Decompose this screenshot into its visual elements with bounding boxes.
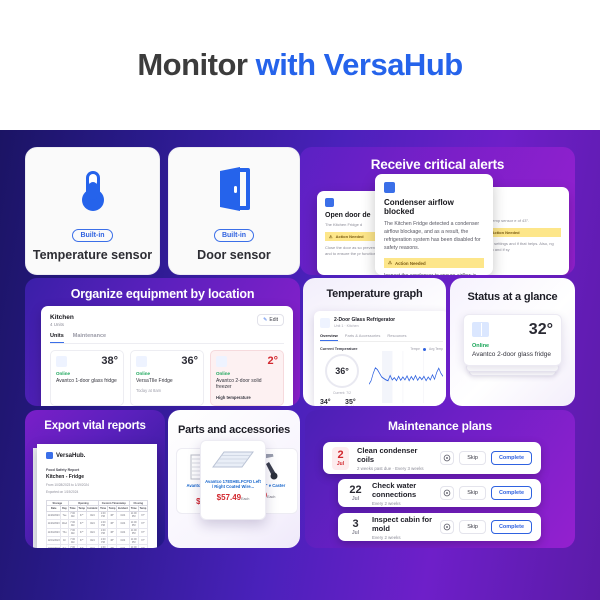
panel-maintenance-plans: Maintenance plans 2 Jul Clean condenser … bbox=[305, 410, 575, 548]
panel-title: Parts and accessories bbox=[168, 424, 300, 436]
skip-button[interactable]: Skip bbox=[459, 451, 486, 465]
table-cell: 11:00 PM bbox=[129, 520, 138, 528]
location-card: Kitchen 4 Units ✎ Edit Units Maintenance… bbox=[41, 306, 293, 406]
task-month: Jul bbox=[347, 530, 364, 536]
unit-temperature: 36° bbox=[181, 356, 198, 367]
tab-parts-accessories[interactable]: Parts & Accessories bbox=[345, 333, 381, 341]
alert-action-strip: ⚠ Action Needed bbox=[384, 258, 484, 268]
glass-fridge-icon bbox=[472, 322, 489, 337]
complete-button[interactable]: Complete bbox=[491, 486, 532, 500]
table-cell: 37° bbox=[77, 536, 86, 544]
unit-top: 2° bbox=[216, 356, 278, 367]
table-cell: Thu bbox=[61, 528, 68, 536]
status-card-top: 32° bbox=[472, 322, 553, 338]
open-door-icon bbox=[214, 148, 254, 229]
location-tabs: Units Maintenance bbox=[50, 333, 284, 344]
device-subtitle: Unit 1 · Kitchen bbox=[334, 324, 395, 328]
unit-name: Avantco 2-door solid freezer bbox=[216, 378, 278, 391]
table-cell: 12/02/2023 bbox=[47, 545, 61, 548]
panel-title: Maintenance plans bbox=[305, 419, 575, 433]
table-cell: 1:00 PM bbox=[99, 536, 108, 544]
panel-title: Temperature graph bbox=[303, 288, 446, 300]
tab-maintenance[interactable]: Maintenance bbox=[73, 333, 106, 343]
warning-icon: ⚠ bbox=[329, 234, 333, 239]
table-row: 11/28/2023Tue7:00 AM37°0/241:00 PM38°0/2… bbox=[47, 511, 148, 519]
thermometer-icon bbox=[76, 148, 110, 229]
table-cell: 7:00 AM bbox=[68, 545, 77, 548]
alert-strip-label: Action Needed bbox=[395, 261, 426, 266]
table-cell: 7:00 AM bbox=[68, 511, 77, 519]
unit-top: 36° bbox=[136, 356, 198, 367]
current-temperature-block: Current Temperature 36° Current: 7/2 34°… bbox=[320, 347, 364, 406]
table-cell: 38° bbox=[108, 528, 117, 536]
table-cell: 38° bbox=[108, 511, 117, 519]
report-generated: Exported on 1/19/2024 bbox=[46, 490, 148, 494]
task-month: Jul bbox=[347, 496, 364, 502]
table-cell: 0/24 bbox=[86, 511, 98, 519]
table-cell: 37° bbox=[138, 536, 147, 544]
page-title-accent: with VersaHub bbox=[256, 47, 463, 82]
stat-weekly-average: 35° Weekly Average Temperature bbox=[345, 399, 364, 406]
gauge-note: Current: 7/2 bbox=[320, 391, 364, 395]
status-badge: Online bbox=[472, 343, 553, 349]
task-actions: Skip Complete bbox=[440, 451, 532, 465]
task-actions: Skip Complete bbox=[440, 486, 532, 500]
table-row: 11/30/2023Thu7:00 AM37°0/241:00 PM38°0/2… bbox=[47, 528, 148, 536]
panel-organize-equipment: Organize equipment by location Kitchen 4… bbox=[25, 278, 300, 406]
table-cell: 0/24 bbox=[86, 528, 98, 536]
unit-name: Avantco 1-door glass fridge bbox=[56, 378, 118, 384]
unit-temperature: 2° bbox=[267, 356, 278, 367]
unit-temperature: 38° bbox=[101, 356, 118, 367]
task-date: 22 Jul bbox=[347, 485, 364, 502]
table-cell: 11:00 PM bbox=[129, 511, 138, 519]
task-day: 22 bbox=[347, 485, 364, 496]
task-row-clean-condenser-coils[interactable]: 2 Jul Clean condenser coils 2 weeks past… bbox=[323, 442, 541, 474]
report-table-body: 11/28/2023Tue7:00 AM37°0/241:00 PM38°0/2… bbox=[47, 511, 148, 548]
settings-gear-icon[interactable] bbox=[440, 486, 454, 500]
fridge-thumbnail-icon bbox=[136, 356, 147, 367]
table-cell: 0/24 bbox=[86, 520, 98, 528]
panel-title: Organize equipment by location bbox=[25, 287, 300, 301]
alert-body: The Kitchen Fridge detected a condenser … bbox=[384, 220, 484, 252]
table-cell: 38° bbox=[108, 536, 117, 544]
sensor-label: Temperature sensor bbox=[33, 248, 152, 262]
edit-button-label: Edit bbox=[269, 317, 278, 323]
graph-body: Current Temperature 36° Current: 7/2 34°… bbox=[320, 347, 443, 406]
table-cell: 0/24 bbox=[86, 545, 98, 548]
unit-top: 38° bbox=[56, 356, 118, 367]
device-name: 2-Door Glass Refrigerator bbox=[334, 317, 395, 323]
part-price-value: $57.49 bbox=[217, 493, 241, 502]
task-date: 3 Jul bbox=[347, 519, 364, 536]
task-day: 2 bbox=[332, 450, 349, 461]
report-document[interactable]: VersaHub. Food Safety Report Kitchen - F… bbox=[37, 444, 157, 548]
device-header: 2-Door Glass Refrigerator Unit 1 · Kitch… bbox=[320, 317, 443, 328]
table-cell: 1:00 PM bbox=[99, 545, 108, 548]
table-cell: 7:00 AM bbox=[68, 528, 77, 536]
graph-stats: 34° Daily Minimum Temperature 35° Weekly… bbox=[320, 399, 364, 406]
table-cell: 11:00 PM bbox=[129, 536, 138, 544]
task-body: Inspect cabin for mold Every 2 weeks bbox=[372, 515, 432, 540]
table-cell: 37° bbox=[77, 545, 86, 548]
current-temperature-label: Current Temperature bbox=[320, 347, 364, 351]
part-card-wire-shelf[interactable]: Avantco 178SHELFCFD Left / Right Coated … bbox=[200, 440, 266, 520]
alert-footer: Inspect the condenser to ensure airflow … bbox=[384, 273, 484, 275]
alert-card-condenser-airflow[interactable]: Condenser airflow blocked The Kitchen Fr… bbox=[375, 174, 493, 275]
alert-strip-label: Action Needed bbox=[492, 230, 520, 235]
unit-alert-meta: High temperature bbox=[216, 395, 278, 400]
table-cell: 37° bbox=[77, 511, 86, 519]
panel-status-at-a-glance: Status at a glance 32° Online Avantco 2-… bbox=[450, 278, 575, 406]
table-row: 12/02/2023Sat7:00 AM37°0/241:00 PM38°0/2… bbox=[47, 545, 148, 548]
panel-title: Status at a glance bbox=[450, 291, 575, 303]
task-actions: Skip Complete bbox=[440, 520, 532, 534]
table-cell: Tue bbox=[61, 511, 68, 519]
temperature-gauge: 36° bbox=[325, 354, 359, 388]
unit-status: Online bbox=[56, 371, 118, 376]
tab-units[interactable]: Units bbox=[50, 333, 64, 343]
task-date: 2 Jul bbox=[332, 447, 349, 470]
task-row-check-water-connections[interactable]: 22 Jul Check water connections Every 2 w… bbox=[338, 479, 541, 507]
fridge-thumbnail-icon bbox=[56, 356, 67, 367]
page-header: Monitor with VersaHub bbox=[0, 0, 600, 130]
table-cell: 37° bbox=[138, 528, 147, 536]
unit-status: Online bbox=[216, 371, 278, 376]
task-meta: 2 weeks past due · Every 3 weeks bbox=[357, 466, 432, 471]
table-row: 12/01/2023Fri7:00 AM37°0/241:00 PM38°0/2… bbox=[47, 536, 148, 544]
alert-action-strip: ⚠ Action Needed bbox=[481, 228, 561, 237]
table-cell: 37° bbox=[138, 545, 147, 548]
sensor-card-temperature[interactable]: Built-in Temperature sensor bbox=[25, 147, 160, 275]
unit-card[interactable]: 38° Online Avantco 1-door glass fridge bbox=[50, 350, 124, 406]
table-cell: 37° bbox=[138, 511, 147, 519]
alert-footer: mostat settings and if that helps. Also,… bbox=[481, 241, 561, 254]
part-price-unit: Each bbox=[241, 497, 249, 501]
table-cell: 11:00 PM bbox=[129, 528, 138, 536]
device-tabs: Overview Parts & Accessories Resources bbox=[320, 333, 443, 342]
sensor-badge: Built-in bbox=[72, 229, 112, 242]
report-kicker: Food Safety Report bbox=[46, 468, 148, 472]
brand-name: VersaHub. bbox=[56, 453, 85, 459]
table-cell: Sat bbox=[61, 545, 68, 548]
panel-title: Receive critical alerts bbox=[300, 157, 575, 172]
skip-button[interactable]: Skip bbox=[459, 486, 486, 500]
settings-gear-icon[interactable] bbox=[440, 451, 454, 465]
freezer-thumbnail-icon bbox=[216, 356, 227, 367]
table-cell: 38° bbox=[108, 520, 117, 528]
table-cell: 0/24 bbox=[117, 545, 129, 548]
brand-logo: VersaHub. bbox=[46, 452, 148, 459]
pencil-icon: ✎ bbox=[263, 317, 267, 323]
sensor-card-door[interactable]: Built-in Door sensor bbox=[168, 147, 300, 275]
status-temperature: 32° bbox=[529, 322, 553, 338]
report-range: From 10/28/2023 to 1/19/2024 bbox=[46, 483, 148, 487]
chart-svg bbox=[369, 351, 443, 403]
table-cell: 11/29/2023 bbox=[47, 520, 61, 528]
panel-receive-critical-alerts: Receive critical alerts Open door de The… bbox=[300, 147, 575, 275]
task-meta: Every 2 weeks bbox=[372, 501, 432, 506]
fridge-icon bbox=[384, 182, 395, 193]
versahub-logo-icon bbox=[46, 452, 53, 459]
table-cell: 12/01/2023 bbox=[47, 536, 61, 544]
unit-meta: Today at 8am bbox=[136, 388, 198, 393]
task-name: Check water connections bbox=[372, 481, 432, 499]
part-price-unit: Each bbox=[267, 495, 275, 499]
fridge-thumbnail-icon bbox=[320, 318, 330, 328]
task-month: Jul bbox=[332, 461, 349, 467]
table-cell: 0/24 bbox=[117, 511, 129, 519]
table-cell: 0/24 bbox=[117, 520, 129, 528]
tab-overview[interactable]: Overview bbox=[320, 333, 338, 341]
page-title: Monitor with VersaHub bbox=[137, 47, 462, 83]
task-body: Clean condenser coils 2 weeks past due ·… bbox=[357, 446, 432, 471]
panel-export-vital-reports: Export vital reports VersaHub. Food Safe… bbox=[25, 410, 165, 548]
complete-button[interactable]: Complete bbox=[491, 451, 532, 465]
location-name: Kitchen bbox=[50, 314, 74, 321]
unit-list: 38° Online Avantco 1-door glass fridge 3… bbox=[50, 350, 284, 406]
feature-grid: Built-in Temperature sensor Built-in Doo… bbox=[0, 130, 600, 600]
alert-heading: ure bbox=[481, 208, 561, 215]
table-cell: 0/24 bbox=[117, 528, 129, 536]
task-day: 3 bbox=[347, 519, 364, 530]
location-unit-count: 4 Units bbox=[50, 322, 74, 327]
panel-parts-and-accessories: Parts and accessories Avantco 178 7-Pan … bbox=[168, 410, 300, 548]
tab-resources[interactable]: Resources bbox=[387, 333, 406, 341]
task-name: Clean condenser coils bbox=[357, 446, 432, 464]
warning-icon: ⚠ bbox=[388, 260, 392, 266]
report-table: StorageOpeningCustom TimestampClosing Da… bbox=[46, 500, 148, 548]
skip-button[interactable]: Skip bbox=[459, 520, 486, 534]
table-cell: 7:00 AM bbox=[68, 536, 77, 544]
panel-title: Export vital reports bbox=[25, 420, 165, 432]
table-cell: 11:00 PM bbox=[129, 545, 138, 548]
alert-heading: Condenser airflow blocked bbox=[384, 198, 484, 216]
table-cell: Wed bbox=[61, 520, 68, 528]
unit-status: Online bbox=[136, 371, 198, 376]
table-cell: 0/24 bbox=[86, 536, 98, 544]
task-name: Inspect cabin for mold bbox=[372, 515, 432, 533]
table-cell: 7:00 AM bbox=[68, 520, 77, 528]
part-price: $57.49Each bbox=[217, 493, 250, 502]
edit-button[interactable]: ✎ Edit bbox=[257, 314, 284, 326]
table-cell: 1:00 PM bbox=[99, 520, 108, 528]
status-unit-name: Avantco 2-door glass fridge bbox=[472, 351, 553, 358]
location-header: Kitchen 4 Units ✎ Edit bbox=[50, 314, 284, 327]
task-row-inspect-cabin-for-mold[interactable]: 3 Jul Inspect cabin for mold Every 2 wee… bbox=[338, 513, 541, 541]
status-card[interactable]: 32° Online Avantco 2-door glass fridge bbox=[463, 314, 562, 366]
part-name: Avantco 178SHELFCFD Left / Right Coated … bbox=[205, 479, 261, 490]
sensor-label: Door sensor bbox=[197, 248, 271, 262]
table-cell: 0/24 bbox=[117, 536, 129, 544]
table-cell: 11/30/2023 bbox=[47, 528, 61, 536]
location-info: Kitchen 4 Units bbox=[50, 314, 74, 327]
fridge-icon bbox=[325, 198, 334, 207]
line-chart: Tempe Avg Temp 6am 12pm bbox=[369, 347, 443, 406]
table-cell: 38° bbox=[108, 545, 117, 548]
table-cell: Fri bbox=[61, 536, 68, 544]
temperature-graph-card: 2-Door Glass Refrigerator Unit 1 · Kitch… bbox=[314, 311, 446, 406]
unit-card[interactable]: 2° Online Avantco 2-door solid freezer H… bbox=[210, 350, 284, 406]
alert-body: High Temp sensor e of 43°. bbox=[481, 218, 561, 223]
unit-card[interactable]: 36° Online VersaTIle Fridge Today at 8am bbox=[130, 350, 204, 406]
task-body: Check water connections Every 2 weeks bbox=[372, 481, 432, 506]
sensor-badge: Built-in bbox=[214, 229, 254, 242]
report-title: Kitchen - Fridge bbox=[46, 474, 148, 480]
table-cell: 37° bbox=[77, 528, 86, 536]
table-cell: 11/28/2023 bbox=[47, 511, 61, 519]
table-cell: 1:00 PM bbox=[99, 511, 108, 519]
wire-shelf-icon bbox=[205, 446, 261, 476]
table-cell: 37° bbox=[138, 520, 147, 528]
device-info: 2-Door Glass Refrigerator Unit 1 · Kitch… bbox=[334, 317, 395, 328]
table-cell: 1:00 PM bbox=[99, 528, 108, 536]
page-title-dark: Monitor bbox=[137, 47, 247, 82]
panel-temperature-graph: Temperature graph 2-Door Glass Refrigera… bbox=[303, 278, 446, 406]
unit-name: VersaTIle Fridge bbox=[136, 378, 198, 384]
table-row: 11/29/2023Wed7:00 AM37°0/241:00 PM38°0/2… bbox=[47, 520, 148, 528]
alert-strip-label: Action Needed bbox=[336, 234, 364, 239]
table-cell: 37° bbox=[77, 520, 86, 528]
report-table-head: StorageOpeningCustom TimestampClosing Da… bbox=[47, 501, 148, 512]
settings-gear-icon[interactable] bbox=[440, 520, 454, 534]
gauge-value: 36° bbox=[335, 366, 349, 376]
complete-button[interactable]: Complete bbox=[491, 520, 532, 534]
stat-daily-minimum: 34° Daily Minimum Temperature bbox=[320, 399, 338, 406]
task-meta: Every 2 weeks bbox=[372, 535, 432, 540]
